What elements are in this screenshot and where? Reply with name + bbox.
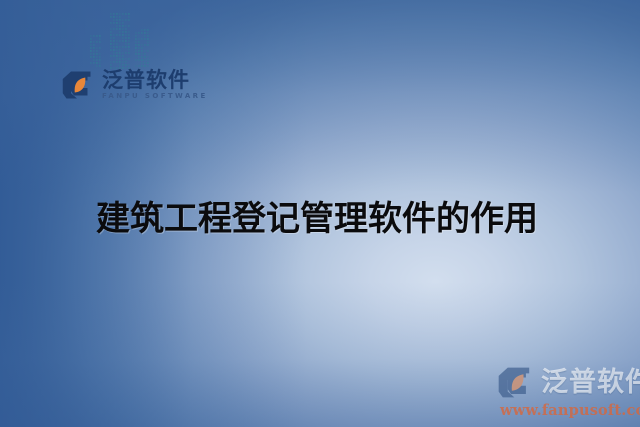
banner-canvas: 泛普软件 FANPU SOFTWARE 建筑工程登记管理软件的作用 泛普软件 w… [0,0,640,427]
brand-wordmark-top: 泛普软件 FANPU SOFTWARE [102,70,208,100]
brand-name-en: FANPU SOFTWARE [102,93,208,100]
watermark-url: www.fanpusoft.com [500,402,637,419]
watermark-logo: 泛普软件 www.fanpusoft.com [497,366,637,424]
watermark-row: 泛普软件 [497,366,637,399]
city-skyline-dots-icon [88,7,152,73]
fanpu-logo-mark-icon [62,70,95,100]
fanpu-logo-mark-icon [497,366,535,399]
watermark-name-cn: 泛普软件 [541,369,640,396]
page-title: 建筑工程登记管理软件的作用 [96,191,538,240]
brand-name-cn: 泛普软件 [102,70,208,91]
brand-logo-top: 泛普软件 FANPU SOFTWARE [62,70,208,100]
